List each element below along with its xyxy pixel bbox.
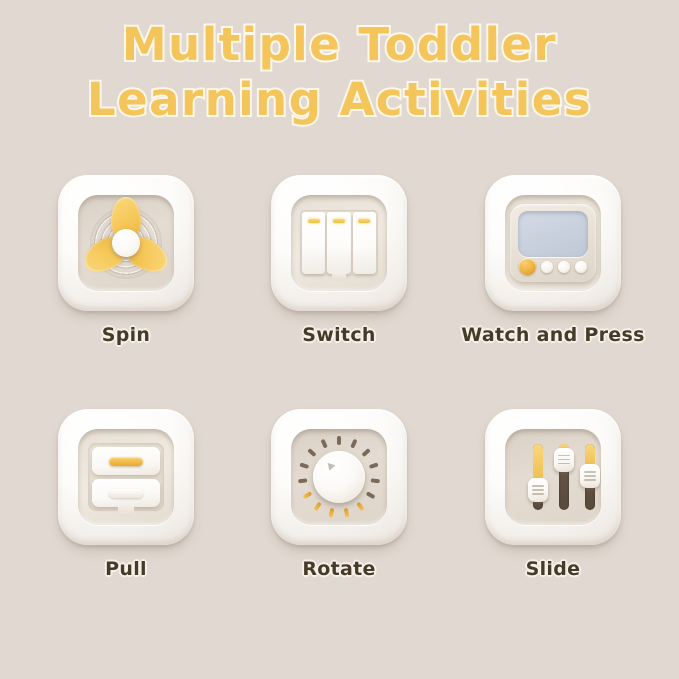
page-title-line-2: Learning Activities: [0, 73, 679, 128]
knob-tick: [320, 439, 327, 449]
tile-rotate[interactable]: [271, 409, 407, 545]
knob-tick: [344, 508, 350, 518]
knob-tick: [356, 502, 365, 512]
pull-handle-amber[interactable]: [109, 457, 143, 466]
knob-tick: [366, 491, 376, 499]
switch-tab: [332, 272, 346, 281]
pull-handle-white[interactable]: [109, 489, 143, 498]
slider-track-3[interactable]: [585, 444, 595, 510]
rocker-switch-3[interactable]: [353, 212, 376, 274]
led-indicator-icon: [308, 219, 320, 223]
tile-inset: [78, 429, 174, 525]
activity-item-watch-and-press[interactable]: Watch and Press: [440, 175, 666, 346]
activity-grid: Spin Switch: [0, 175, 679, 665]
activity-item-pull[interactable]: Pull: [13, 409, 239, 580]
tv-screen-icon: [510, 204, 596, 282]
activity-label-watch-and-press: Watch and Press: [440, 324, 666, 346]
page-title-line-1: Multiple Toddler: [0, 18, 679, 73]
slider-icon: [505, 429, 601, 525]
slider-thumb-1[interactable]: [528, 478, 548, 502]
pull-drawer-top[interactable]: [92, 447, 160, 475]
tv-button-amber[interactable]: [519, 258, 536, 275]
tv-button-white-2[interactable]: [558, 261, 570, 273]
tv-display: [518, 211, 588, 257]
tile-pull[interactable]: [58, 409, 194, 545]
slider-track-1[interactable]: [533, 444, 543, 510]
knob-dial[interactable]: [313, 451, 365, 503]
activity-item-switch[interactable]: Switch: [226, 175, 452, 346]
led-indicator-icon: [358, 219, 370, 223]
fan-hub: [112, 229, 140, 257]
activity-label-pull: Pull: [13, 558, 239, 580]
knob-tick: [329, 508, 335, 518]
fan-icon: [78, 195, 174, 291]
tile-watch-and-press[interactable]: [485, 175, 621, 311]
tile-inset: [291, 429, 387, 525]
tile-spin[interactable]: [58, 175, 194, 311]
tv-button-white-3[interactable]: [575, 261, 587, 273]
knob-tick: [298, 478, 307, 483]
knob-tick: [307, 448, 316, 457]
tv-button-row: [519, 258, 587, 275]
pull-tab: [118, 503, 134, 517]
slider-thumb-2[interactable]: [554, 448, 574, 472]
knob-tick: [313, 502, 322, 512]
tile-inset: [291, 195, 387, 291]
knob-tick: [361, 448, 370, 457]
slider-thumb-3[interactable]: [580, 464, 600, 488]
activity-label-rotate: Rotate: [226, 558, 452, 580]
activity-label-switch: Switch: [226, 324, 452, 346]
rocker-switch-2[interactable]: [327, 212, 350, 274]
activity-item-rotate[interactable]: Rotate: [226, 409, 452, 580]
activity-label-spin: Spin: [13, 324, 239, 346]
knob-tick: [369, 462, 379, 469]
tile-inset: [505, 195, 601, 291]
tv-button-white-1[interactable]: [541, 261, 553, 273]
tile-inset: [78, 195, 174, 291]
activity-item-slide[interactable]: Slide: [440, 409, 666, 580]
pull-drawer-bottom[interactable]: [92, 479, 160, 507]
rocker-switch-1[interactable]: [302, 212, 325, 274]
tile-switch[interactable]: [271, 175, 407, 311]
knob-tick: [350, 439, 357, 449]
poster-root: Multiple Toddler Learning Activities Spi…: [0, 0, 679, 679]
activity-label-slide: Slide: [440, 558, 666, 580]
page-title: Multiple Toddler Learning Activities: [0, 18, 679, 128]
rotary-knob-icon: [291, 429, 387, 525]
tile-slide[interactable]: [485, 409, 621, 545]
pull-drawer-icon: [88, 443, 164, 511]
tile-inset: [505, 429, 601, 525]
knob-pointer-icon: [325, 460, 336, 471]
led-indicator-icon: [333, 219, 345, 223]
slider-track-2[interactable]: [559, 444, 569, 510]
knob-tick: [337, 436, 341, 445]
knob-tick: [371, 478, 380, 483]
rocker-switch-icon: [300, 210, 378, 276]
knob-tick: [302, 491, 312, 499]
knob-tick: [299, 462, 309, 469]
activity-item-spin[interactable]: Spin: [13, 175, 239, 346]
